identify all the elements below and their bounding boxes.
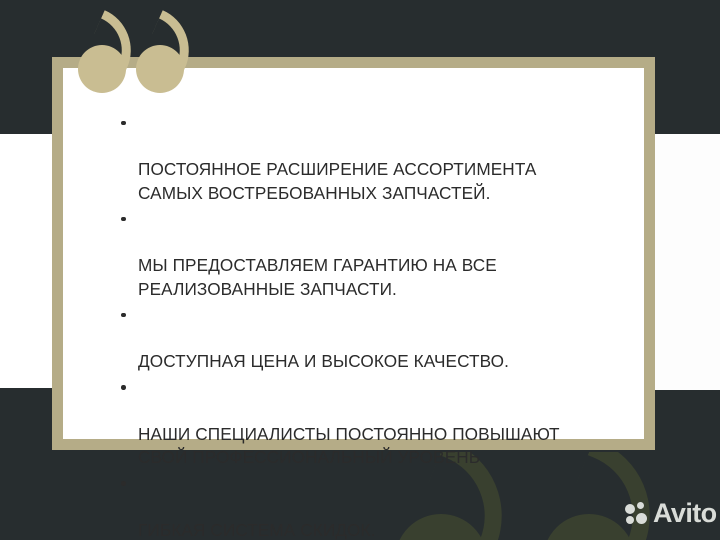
bullet-icon	[121, 217, 126, 222]
list-item-label: ГИБКАЯ СИСТЕМА СКИДОК.	[138, 520, 376, 540]
quote-card-inner: ПОСТОЯННОЕ РАСШИРЕНИЕ АССОРТИМЕНТА САМЫХ…	[63, 68, 644, 439]
list-item: НАШИ СПЕЦИАЛИСТЫ ПОСТОЯННО ПОВЫШАЮТ СВОЙ…	[119, 376, 623, 470]
list-item-label: ПОСТОЯННОЕ РАСШИРЕНИЕ АССОРТИМЕНТА САМЫХ…	[138, 159, 536, 203]
list-item: ПОСТОЯННОЕ РАСШИРЕНИЕ АССОРТИМЕНТА САМЫХ…	[119, 111, 623, 205]
list-item-label: МЫ ПРЕДОСТАВЛЯЕМ ГАРАНТИЮ НА ВСЕ РЕАЛИЗО…	[138, 255, 497, 299]
list-item: МЫ ПРЕДОСТАВЛЯЕМ ГАРАНТИЮ НА ВСЕ РЕАЛИЗО…	[119, 207, 623, 301]
quote-card: ПОСТОЯННОЕ РАСШИРЕНИЕ АССОРТИМЕНТА САМЫХ…	[52, 57, 655, 450]
benefits-list: ПОСТОЯННОЕ РАСШИРЕНИЕ АССОРТИМЕНТА САМЫХ…	[119, 111, 623, 540]
avito-logo: Avito	[625, 500, 717, 527]
avito-dot-1	[625, 504, 635, 514]
list-item: ДОСТУПНАЯ ЦЕНА И ВЫСОКОЕ КАЧЕСТВО.	[119, 303, 623, 374]
bullet-icon	[121, 385, 126, 390]
avito-dots-icon	[625, 502, 649, 526]
image-canvas: ПОСТОЯННОЕ РАСШИРЕНИЕ АССОРТИМЕНТА САМЫХ…	[0, 0, 720, 540]
list-item: ГИБКАЯ СИСТЕМА СКИДОК.	[119, 472, 623, 540]
avito-dot-4	[636, 513, 647, 524]
avito-wordmark: Avito	[653, 500, 717, 527]
list-item-label: НАШИ СПЕЦИАЛИСТЫ ПОСТОЯННО ПОВЫШАЮТ СВОЙ…	[138, 424, 560, 468]
list-item-label: ДОСТУПНАЯ ЦЕНА И ВЫСОКОЕ КАЧЕСТВО.	[138, 351, 509, 371]
avito-dot-3	[626, 516, 634, 524]
bullet-icon	[121, 121, 126, 126]
bullet-icon	[121, 481, 126, 486]
avito-dot-2	[637, 502, 644, 509]
bullet-icon	[121, 313, 126, 318]
